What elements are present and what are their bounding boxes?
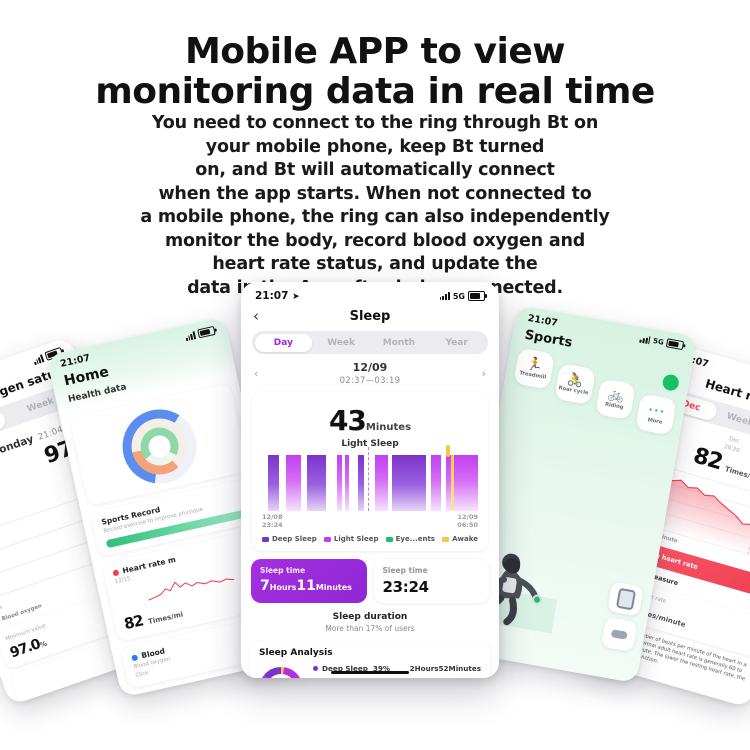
legend-eye-movements: Eye...ents xyxy=(386,535,435,543)
sleep-time-tiles: Sleep time 7Hours11Minutes Sleep time 23… xyxy=(251,559,489,603)
subcopy-line: a mobile phone, the ring can also indepe… xyxy=(0,206,750,230)
subcopy-line: your mobile phone, keep Bt turned xyxy=(0,136,750,160)
page-root: Mobile APP to view monitoring data in re… xyxy=(0,0,750,750)
legend-swatch xyxy=(386,537,393,542)
chart-end-label: 12/09 06:50 xyxy=(457,513,478,529)
legend-label: Awake xyxy=(452,535,478,543)
onset-time: 23:24 xyxy=(383,578,429,596)
ring-icon xyxy=(615,588,635,611)
bar-deep xyxy=(307,455,326,511)
subcopy-line: when the app starts. When not connected … xyxy=(0,183,750,207)
tile-value: 23:24 xyxy=(383,578,481,596)
sleep-legend: Deep Sleep Light Sleep Eye...ents Awake xyxy=(262,535,478,543)
ring-device-card[interactable] xyxy=(607,581,644,616)
row-pct: 59% xyxy=(373,678,390,679)
nav-bar: ‹ Sleep xyxy=(241,304,499,331)
page-title-label: Sleep xyxy=(241,309,499,324)
bar-deep xyxy=(268,455,279,511)
hypnogram-bars xyxy=(262,455,478,511)
tab-week[interactable]: Week xyxy=(312,334,370,352)
hours-unit: Hours xyxy=(270,583,297,592)
gear-icon xyxy=(662,373,681,392)
sport-riding[interactable]: 🚲 Riding xyxy=(595,378,636,420)
minutes-unit: Minutes xyxy=(316,583,352,592)
sleep-onset-tile[interactable]: Sleep time 23:24 xyxy=(374,559,490,603)
min-unit: % xyxy=(39,640,48,650)
legend-label: Deep Sleep xyxy=(272,535,317,543)
heart-value: 82 xyxy=(122,611,144,633)
page-title: Mobile APP to view monitoring data in re… xyxy=(0,32,750,112)
legend-awake: Awake xyxy=(442,535,478,543)
network-label: 5G xyxy=(653,336,665,346)
sport-more[interactable]: ••• More xyxy=(635,394,676,436)
minutes-value: 11 xyxy=(296,578,315,594)
tile-label: Sleep time xyxy=(383,566,481,575)
band-device-card[interactable] xyxy=(601,617,638,652)
period-tabs[interactable]: Day Week Month Year xyxy=(252,331,488,354)
tile-value: 7Hours11Minutes xyxy=(260,578,358,594)
next-date-icon[interactable]: › xyxy=(482,367,486,380)
sleep-duration-comparison: Sleep duration More than 17% of users xyxy=(241,612,499,633)
time-range-label: 02:37—03:19 xyxy=(258,376,481,386)
legend-light-sleep: Light Sleep xyxy=(324,535,379,543)
legend-deep-sleep: Deep Sleep xyxy=(262,535,317,543)
signal-icon xyxy=(440,292,450,300)
chart-start-label: 12/08 23:24 xyxy=(262,513,283,529)
sport-treadmill[interactable]: 🏃 Treadmill xyxy=(513,348,554,390)
ring-outer-icon xyxy=(115,402,203,490)
sport-label: More xyxy=(647,417,663,425)
hours-value: 7 xyxy=(260,578,270,594)
signal-icon xyxy=(32,354,44,365)
sleep-stage-label: Light Sleep xyxy=(252,439,488,449)
bar-light xyxy=(431,455,442,511)
row-name: Light Sleep xyxy=(322,678,368,679)
sleep-hypnogram-chart xyxy=(262,455,478,511)
now-marker xyxy=(368,447,369,511)
phone-sleep[interactable]: 21:07 ➤ 5G ‹ Sleep Day Week M xyxy=(241,282,499,678)
sport-label: Treadmill xyxy=(519,370,547,381)
tile-label: Sleep time xyxy=(260,566,358,575)
score-hole: 54 Score xyxy=(266,674,296,678)
network-label: 5G xyxy=(453,292,465,301)
status-icons: 5G xyxy=(440,291,485,301)
subcopy-line: monitor the body, record blood oxygen an… xyxy=(0,230,750,254)
legend-label: Eye...ents xyxy=(396,535,435,543)
blood-icon xyxy=(131,654,138,661)
legend-label: Light Sleep xyxy=(334,535,379,543)
date-label: 12/09 xyxy=(258,361,481,374)
duration-unit: Minutes xyxy=(366,422,411,433)
riding-icon: 🚲 xyxy=(607,388,625,404)
breakdown-row: Light Sleep 59% 4Hours19Minutes xyxy=(313,678,481,679)
heart-icon xyxy=(112,569,119,576)
sleep-duration-readout: 43Minutes Light Sleep xyxy=(252,398,488,451)
sport-roar-cycle[interactable]: 🚴 Roar cycle xyxy=(554,363,595,405)
duration-subtitle: More than 17% of users xyxy=(241,624,499,633)
bar-light xyxy=(375,455,388,511)
analysis-title: Sleep Analysis xyxy=(259,648,481,658)
heart-unit: Times/mi xyxy=(147,610,184,626)
legend-swatch xyxy=(442,537,449,542)
status-bar: 21:07 ➤ 5G xyxy=(241,282,499,304)
sport-label: Roar cycle xyxy=(558,385,589,396)
sleep-score-donut: 54 Score xyxy=(259,667,303,678)
date-center: 12/09 02:37—03:19 xyxy=(258,361,481,386)
band-icon xyxy=(611,629,628,640)
subcopy-line: You need to connect to the ring through … xyxy=(0,112,750,136)
awake-marker-icon xyxy=(446,445,450,457)
row-swatch xyxy=(313,666,318,671)
duration-title: Sleep duration xyxy=(241,612,499,622)
phone-mockup-fan: 21:07 ‹ Blood oxygen satu Day Week ‹ xyxy=(0,262,750,732)
signal-icon xyxy=(184,331,196,341)
legend-swatch xyxy=(262,537,269,542)
bar-light xyxy=(454,455,478,511)
signal-icon xyxy=(640,334,651,344)
battery-icon xyxy=(468,291,485,301)
tab-year[interactable]: Year xyxy=(428,334,486,352)
min-value: 97.0 xyxy=(8,636,42,661)
tab-month[interactable]: Month xyxy=(370,334,428,352)
back-icon[interactable]: ‹ xyxy=(253,309,259,324)
bar-deep xyxy=(392,455,426,511)
hr-unit: Times/mi xyxy=(724,465,750,483)
subcopy-line: on, and Bt will automatically connect xyxy=(0,159,750,183)
home-indicator xyxy=(331,671,409,674)
sports-settings[interactable] xyxy=(662,373,681,392)
cycle-icon: 🚴 xyxy=(566,373,584,389)
duration-value: 43 xyxy=(329,404,366,437)
hypnogram-axis-labels: 12/08 23:24 12/09 06:50 xyxy=(262,513,478,529)
headline-line-1: Mobile APP to view xyxy=(0,32,750,72)
status-time: 21:07 ➤ xyxy=(255,290,300,302)
date-selector[interactable]: ‹ 12/09 02:37—03:19 › xyxy=(241,354,499,386)
treadmill-icon: 🏃 xyxy=(526,357,544,373)
headline-line-2: monitoring data in real time xyxy=(0,72,750,112)
battery-icon xyxy=(666,338,684,350)
bar-light xyxy=(286,455,301,511)
row-time: 2Hours52Minutes xyxy=(410,664,481,673)
device-cards-column xyxy=(601,581,644,652)
tab-day[interactable]: Day xyxy=(255,334,313,352)
sleep-total-tile[interactable]: Sleep time 7Hours11Minutes xyxy=(251,559,367,603)
sleep-summary-card: 43Minutes Light Sleep xyxy=(252,392,488,551)
battery-icon xyxy=(197,326,216,339)
row-time: 4Hours19Minutes xyxy=(410,678,481,679)
legend-swatch xyxy=(324,537,331,542)
location-arrow-icon: ➤ xyxy=(292,292,300,302)
